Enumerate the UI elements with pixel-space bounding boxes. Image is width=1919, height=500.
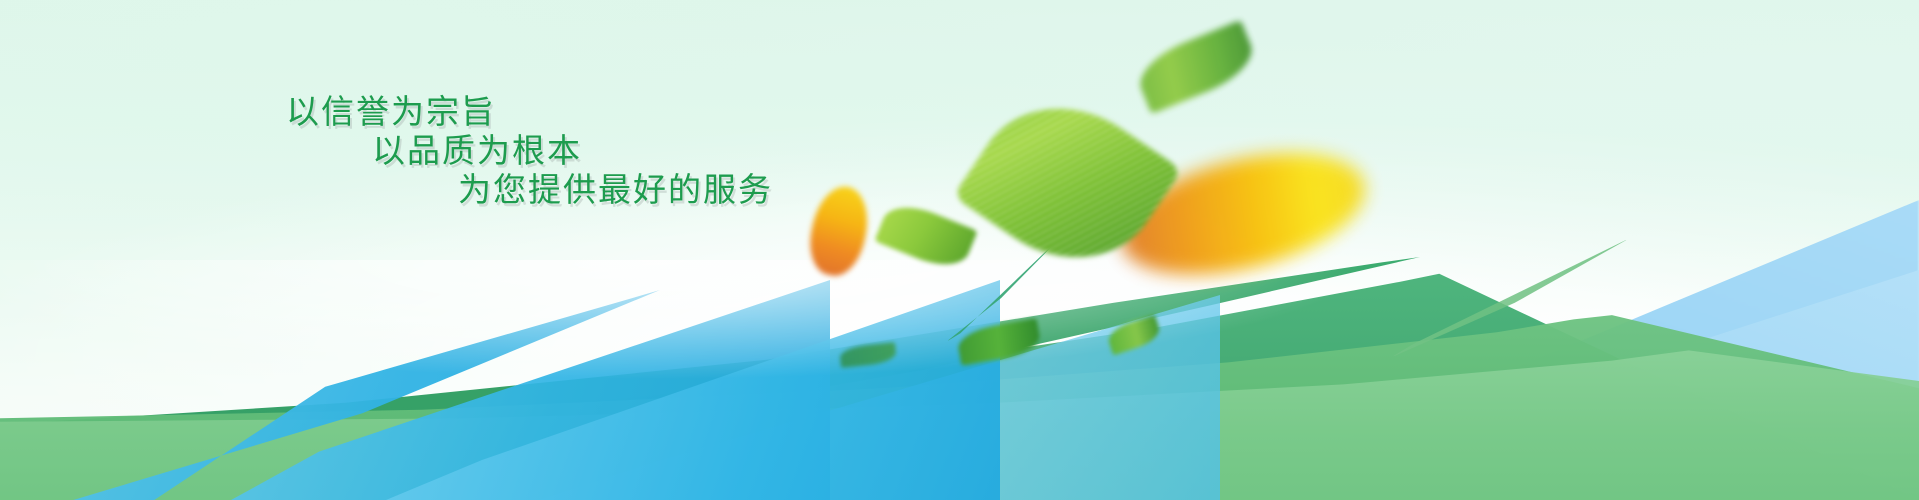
promo-banner: 以信誉为宗旨 以品质为根本 为您提供最好的服务 [0,0,1919,500]
slogan-line-2: 以品质为根本 [0,131,900,170]
slogan-line-1: 以信誉为宗旨 [0,92,900,131]
slogan-block: 以信誉为宗旨 以品质为根本 为您提供最好的服务 [0,92,900,209]
slogan-line-3: 为您提供最好的服务 [0,170,900,209]
hill-haze-overlay [0,260,1919,500]
